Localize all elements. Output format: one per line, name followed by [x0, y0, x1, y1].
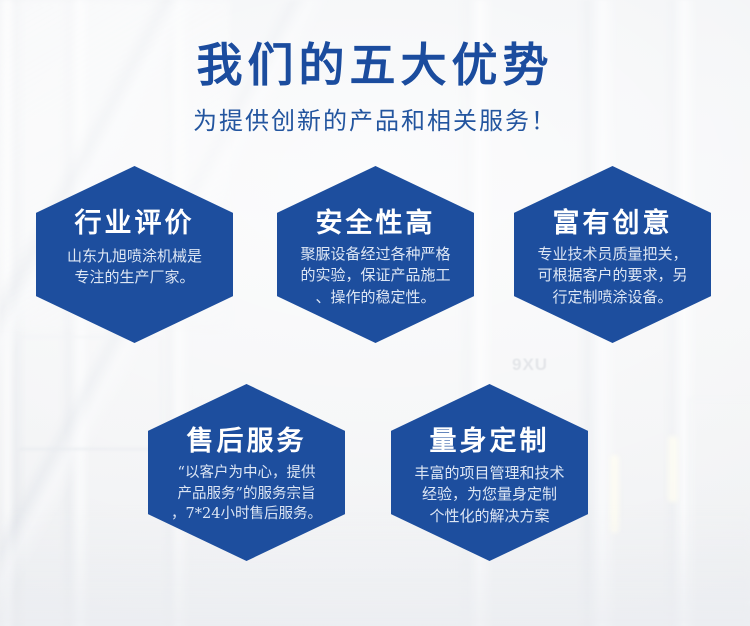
advantage-hexagon-tailored-customization[interactable]: 量身定制 丰富的项目管理和技术 经验，为您量身定制 个性化的解决方案 [391, 384, 588, 561]
advantage-body: 聚脲设备经过各种严格 的实验，保证产品施工 、操作的稳定性。 [278, 237, 474, 308]
page-subtitle: 为提供创新的产品和相关服务！ [0, 92, 750, 136]
advantage-heading: 富有创意 [553, 166, 673, 237]
advantage-heading: 量身定制 [430, 384, 550, 455]
advantage-body: “以客户为中心，提供 产品服务”的服务宗旨 ，7*24小时售后服务。 [149, 455, 345, 525]
poster-header: 我们的五大优势 为提供创新的产品和相关服务！ [0, 0, 750, 136]
advantage-hexagon-after-sales-service[interactable]: 售后服务 “以客户为中心，提供 产品服务”的服务宗旨 ，7*24小时售后服务。 [148, 384, 345, 561]
advantage-heading: 安全性高 [316, 166, 436, 237]
page-title: 我们的五大优势 [0, 0, 750, 92]
advantage-heading: 行业评价 [75, 166, 195, 237]
advantage-hexagon-creative[interactable]: 富有创意 专业技术员质量把关， 可根据客户的要求，另 行定制喷涂设备。 [514, 166, 711, 343]
advantages-poster: 9XU 我们的五大优势 为提供创新的产品和相关服务！ 行业评价 山东九旭喷涂机械… [0, 0, 750, 626]
advantage-body: 专业技术员质量把关， 可根据客户的要求，另 行定制喷涂设备。 [515, 237, 711, 308]
advantage-heading: 售后服务 [187, 384, 307, 455]
advantage-hexagon-industry-reputation[interactable]: 行业评价 山东九旭喷涂机械是 专注的生产厂家。 [36, 166, 233, 343]
advantage-hexagon-high-safety[interactable]: 安全性高 聚脲设备经过各种严格 的实验，保证产品施工 、操作的稳定性。 [277, 166, 474, 343]
advantage-body: 丰富的项目管理和技术 经验，为您量身定制 个性化的解决方案 [392, 455, 588, 527]
advantage-body: 山东九旭喷涂机械是 专注的生产厂家。 [37, 237, 233, 289]
